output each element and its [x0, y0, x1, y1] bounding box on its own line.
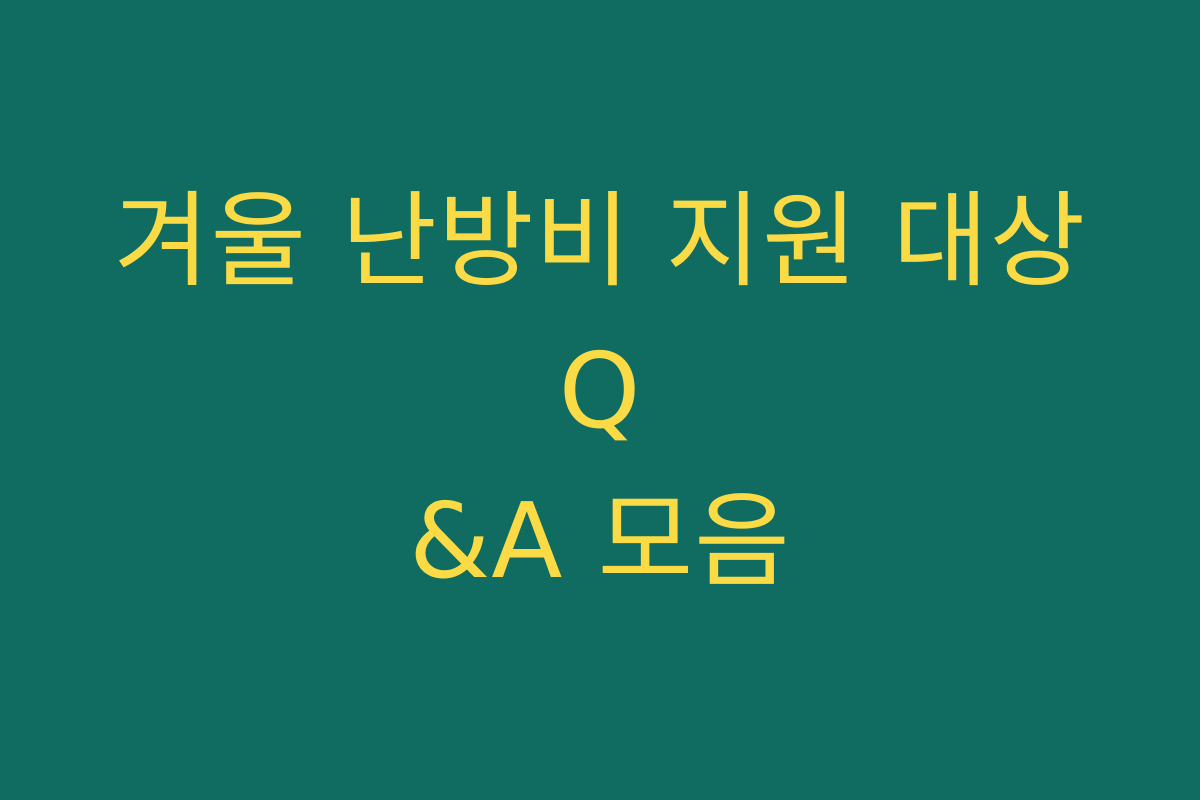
page-title: 겨울 난방비 지원 대상 Q&A 모음: [70, 167, 1130, 616]
title-line-1: 겨울 난방비 지원 대상 Q: [70, 167, 1130, 467]
banner-canvas: 겨울 난방비 지원 대상 Q&A 모음: [0, 0, 1200, 800]
title-block: 겨울 난방비 지원 대상 Q&A 모음: [70, 167, 1130, 616]
title-line-2: &A 모음: [70, 467, 1130, 617]
